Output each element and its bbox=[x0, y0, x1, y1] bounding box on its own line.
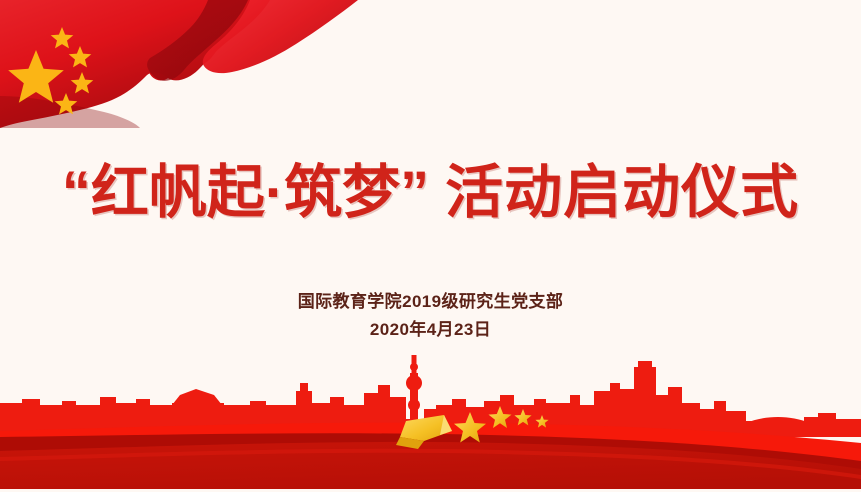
page-title: “红帆起·筑梦”活动启动仪式 bbox=[0, 162, 861, 225]
flag-small-star-3 bbox=[71, 72, 94, 93]
bottom-scene bbox=[0, 347, 861, 492]
subtitle-block: 国际教育学院2019级研究生党支部 2020年4月23日 bbox=[0, 288, 861, 343]
chinese-national-flag bbox=[0, 0, 420, 180]
flag-fold-shadow bbox=[147, 0, 248, 81]
title-block: “红帆起·筑梦”活动启动仪式 bbox=[0, 162, 861, 225]
flag-stars-group bbox=[8, 27, 93, 114]
subtitle-date: 2020年4月23日 bbox=[0, 316, 861, 344]
presentation-slide: “红帆起·筑梦”活动启动仪式 国际教育学院2019级研究生党支部 2020年4月… bbox=[0, 0, 861, 492]
flag-large-star bbox=[8, 50, 64, 103]
flag-small-star-1 bbox=[51, 27, 74, 48]
flag-small-star-2 bbox=[69, 46, 92, 67]
subtitle-organization: 国际教育学院2019级研究生党支部 bbox=[0, 288, 861, 316]
title-plain-segment: 活动启动仪式 bbox=[445, 160, 799, 225]
flag-upper-fold bbox=[0, 0, 268, 80]
flag-main-body bbox=[0, 0, 270, 128]
flag-tail bbox=[196, 0, 358, 73]
flag-small-star-4 bbox=[55, 93, 78, 114]
flag-bottom-shade bbox=[0, 96, 140, 128]
title-quoted-segment: “红帆起·筑梦” bbox=[62, 160, 429, 225]
